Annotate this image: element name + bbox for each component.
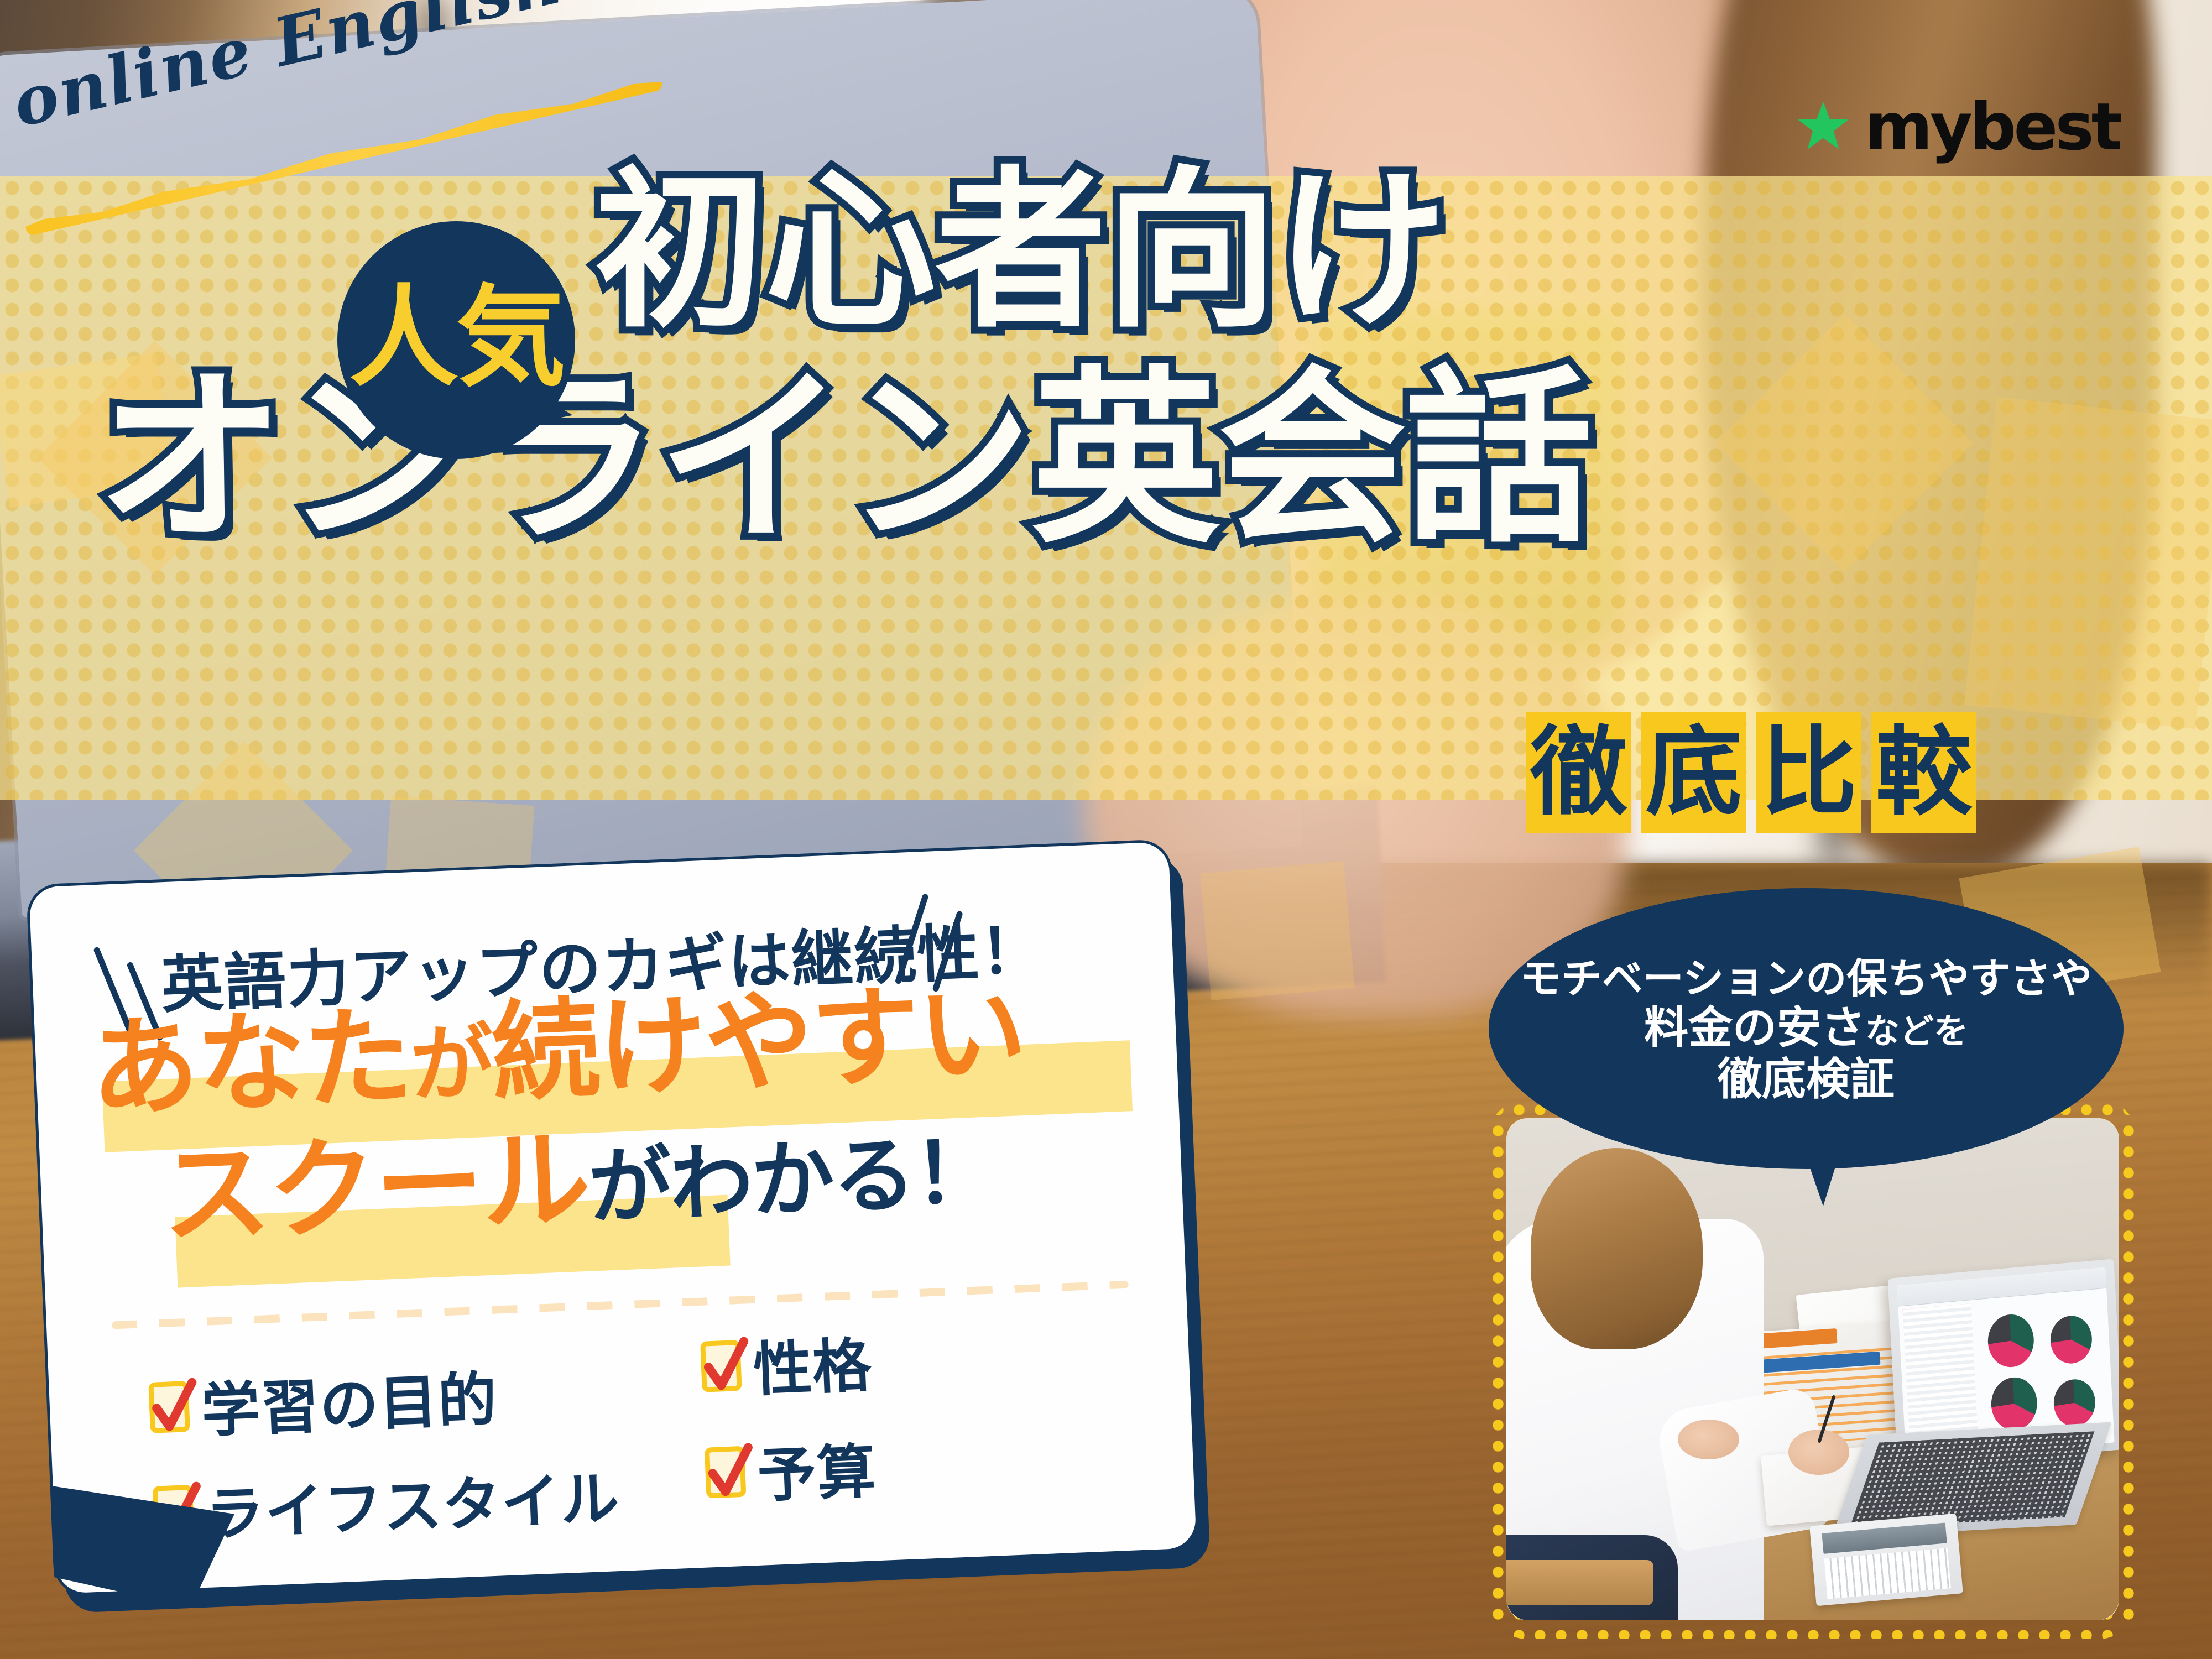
checkbox-icon[interactable] <box>148 1381 190 1433</box>
speech-bubble: モチベーションの保ちやすさや 料金の安さなどを 徹底検証 <box>1489 888 2124 1169</box>
bubble-line-1: モチベーションの保ちやすさや <box>1520 957 2093 1000</box>
ninki-badge-label: 人気 <box>349 283 564 393</box>
emphasis-box: 徹 <box>1526 712 1631 833</box>
photo-pie-chart <box>1986 1313 2035 1369</box>
emphasis-box: 比 <box>1756 712 1861 833</box>
bubble-line-3: 徹底検証 <box>1718 1056 1895 1103</box>
checkbox-icon[interactable] <box>700 1340 742 1392</box>
mybest-logo[interactable]: mybest <box>1796 94 2120 159</box>
bubble-line-2-a: 料金の安さ <box>1644 1002 1865 1053</box>
photo-pie-chart <box>1990 1376 2038 1432</box>
emphasis-char: 底 <box>1646 724 1743 821</box>
photo-person-hand-left <box>1678 1420 1739 1460</box>
emphasis-char: 比 <box>1761 724 1858 821</box>
checklist-label: 予算 <box>755 1423 877 1513</box>
photo-calculator-keys <box>1824 1548 1951 1599</box>
checklist-item: 学習の目的 <box>148 1352 499 1451</box>
logo-wordmark: mybest <box>1865 94 2120 159</box>
checkbox-icon[interactable] <box>705 1446 747 1499</box>
emphasis-char: 徹 <box>1531 724 1627 821</box>
bubble-line-2-b: などを <box>1865 1011 1968 1051</box>
title-line-2-text: オンライン英会話 <box>97 365 1592 553</box>
title-line-1: 初心者向け <box>594 166 1446 337</box>
info-card: 英語力アップのカギは継続性！ あなたが続けやすい スクールがわかる！ 学習の目的 <box>26 839 1199 1597</box>
checklist-label: 学習の目的 <box>200 1352 499 1448</box>
card-line-3: スクールがわかる！ <box>160 1109 997 1250</box>
dashed-divider <box>112 1281 1129 1329</box>
card-line-2-b: が <box>409 1015 494 1114</box>
photo-keyboard-keys <box>1850 1431 2095 1528</box>
photo-pie-chart <box>2049 1314 2094 1365</box>
checkmark-icon <box>145 1372 201 1441</box>
photo-pie-chart <box>2053 1378 2097 1428</box>
card-line-2-a: あなた <box>88 994 413 1133</box>
title-line-2: オンライン英会話 <box>97 365 1592 553</box>
checklist: 学習の目的 性格 ライフスタイル <box>148 1326 1120 1365</box>
poster-canvas: mybest online English lessons 初心者向け オンライ… <box>0 0 2212 1659</box>
bubble-line-2: 料金の安さなどを <box>1644 1005 1968 1052</box>
emphasis-box: 底 <box>1641 712 1746 833</box>
checklist-label: ライフスタイル <box>204 1451 622 1552</box>
checkmark-icon <box>697 1331 753 1400</box>
checklist-item: 予算 <box>704 1423 878 1515</box>
emphasis-char: 較 <box>1876 724 1973 821</box>
card-line-3-a: スクール <box>159 1117 591 1260</box>
ninki-badge: 人気 <box>337 221 575 459</box>
script-tagline: online English lessons <box>6 66 658 249</box>
star-icon <box>1796 100 1850 154</box>
photo-chair <box>1506 1560 1653 1605</box>
emphasis-box: 較 <box>1871 712 1976 833</box>
checklist-item: 性格 <box>700 1317 873 1409</box>
photo-person-hair <box>1531 1148 1702 1349</box>
photo-calculator <box>1809 1514 1963 1606</box>
decor-shape <box>1964 397 2212 729</box>
emphasis-boxes: 徹 底 比 較 <box>1526 712 1976 833</box>
title-line-1-text: 初心者向け <box>594 166 1446 337</box>
decor-shape <box>1200 861 1354 1000</box>
checkmark-icon <box>701 1437 757 1506</box>
checklist-label: 性格 <box>752 1317 873 1407</box>
card-line-2-c: 続けやすい <box>489 969 1027 1117</box>
card-line-3-b: がわかる！ <box>587 1124 997 1236</box>
